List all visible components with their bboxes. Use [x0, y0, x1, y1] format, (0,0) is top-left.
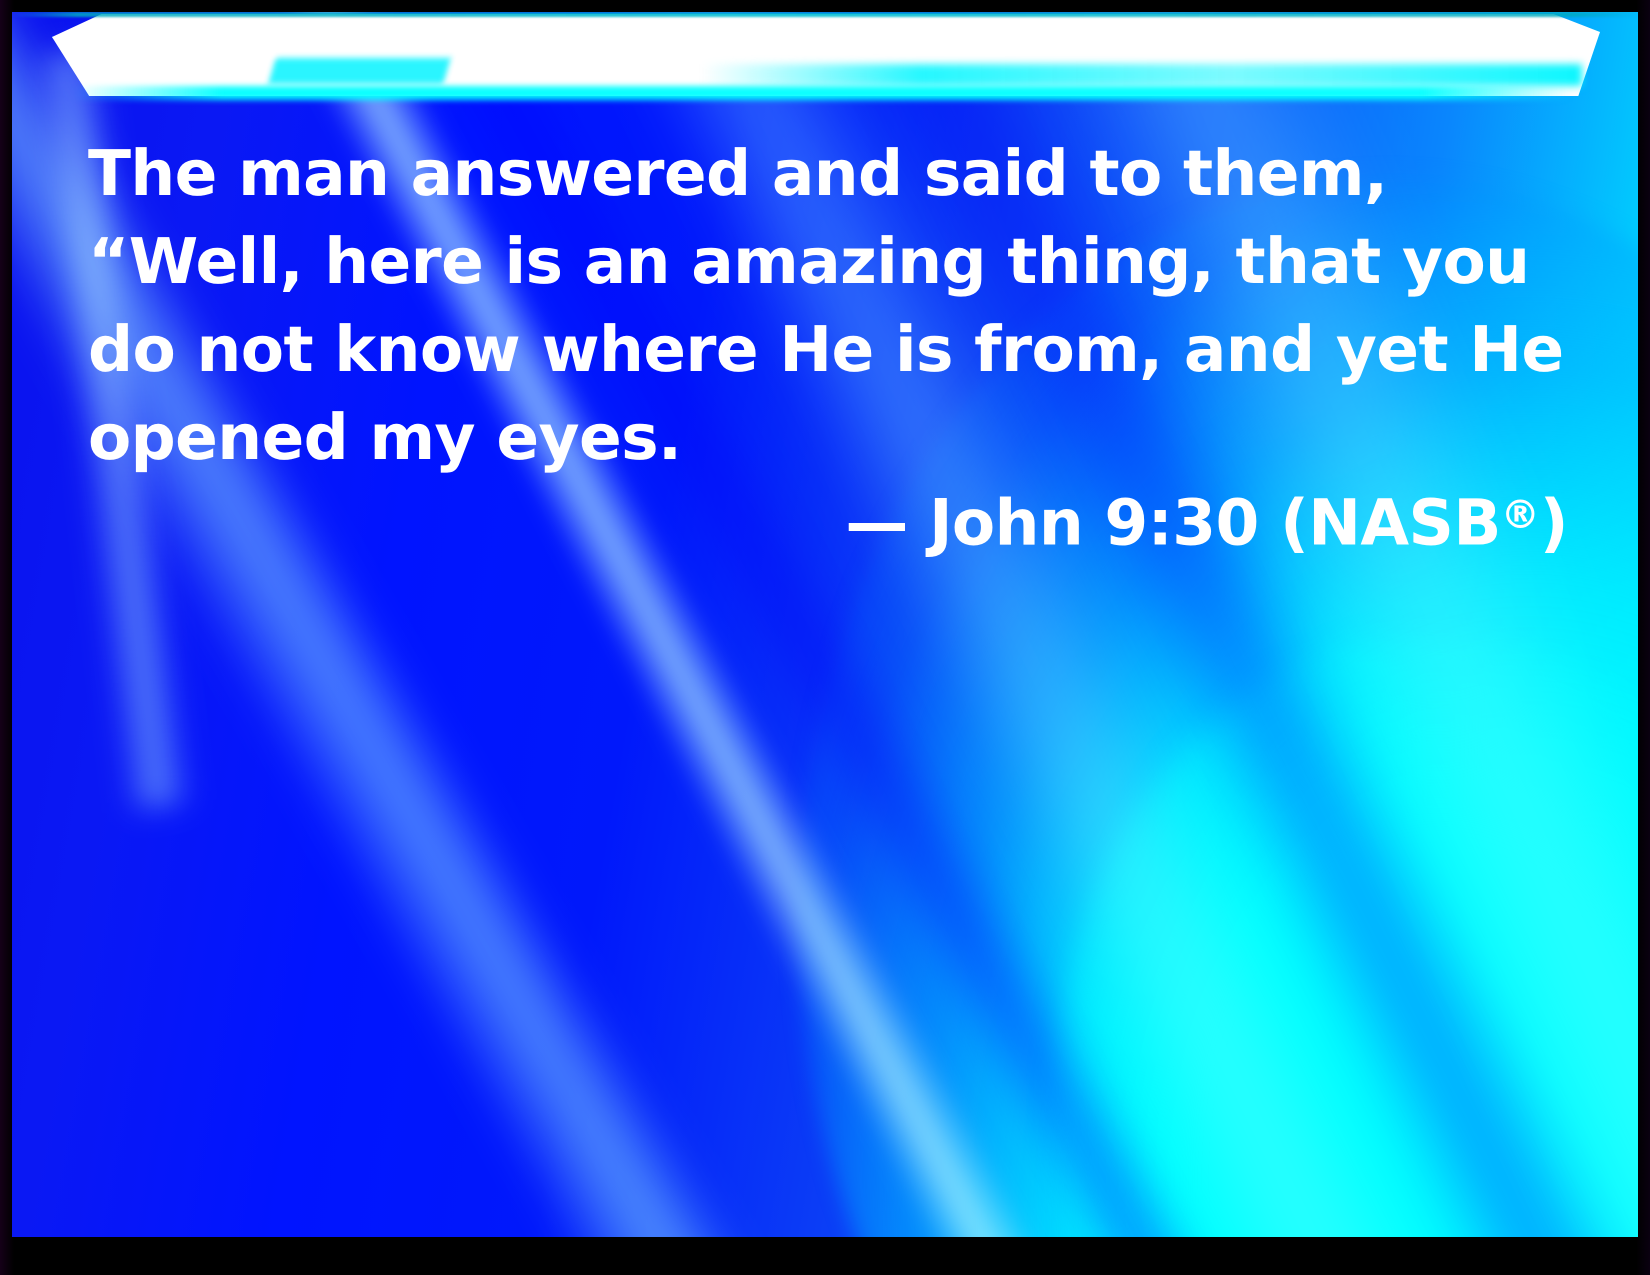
- top-glow-band-group: [12, 12, 1638, 122]
- verse-line-1: The man answered and said to them,: [88, 130, 1568, 218]
- verse-line-4: opened my eyes.: [88, 394, 1568, 482]
- verse-text-block: The man answered and said to them, “Well…: [88, 130, 1568, 482]
- cyan-wisp-3: [72, 86, 1572, 100]
- attribution-prefix: — John 9:30 (NASB: [845, 486, 1500, 559]
- verse-line-2: “Well, here is an amazing thing, that yo…: [88, 218, 1568, 306]
- registered-trademark-icon: ®: [1501, 493, 1540, 538]
- cyan-wisp-1: [268, 58, 450, 84]
- band-hairline: [12, 12, 1638, 17]
- verse-attribution: — John 9:30 (NASB®): [88, 472, 1568, 567]
- attribution-suffix: ): [1540, 486, 1568, 559]
- cyan-wisp-2: [702, 64, 1582, 86]
- slide-stage: The man answered and said to them, “Well…: [12, 12, 1638, 1237]
- verse-line-3: do not know where He is from, and yet He: [88, 306, 1568, 394]
- verse-slide: The man answered and said to them, “Well…: [0, 0, 1650, 1275]
